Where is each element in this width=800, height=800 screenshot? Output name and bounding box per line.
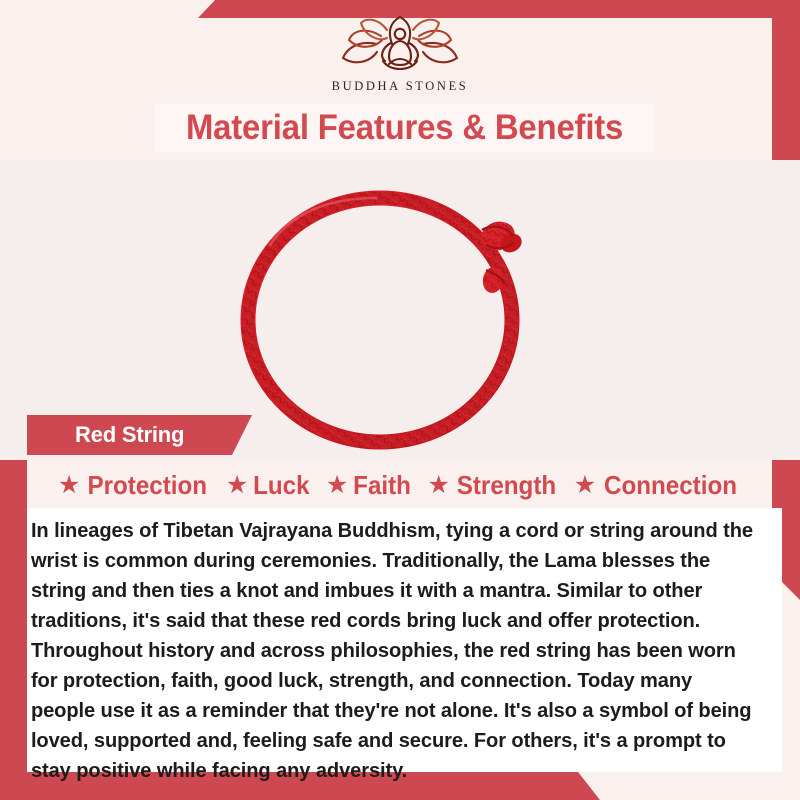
feature-label: Strength — [457, 470, 556, 501]
brand-wordmark: BUDDHA STONES — [0, 79, 800, 94]
star-icon: ★ — [574, 473, 596, 498]
feature-label: Connection — [604, 470, 737, 501]
description-panel: In lineages of Tibetan Vajrayana Buddhis… — [27, 508, 782, 772]
title-band: Material Features & Benefits — [155, 104, 655, 152]
feature-item-strength: ★ Strength — [421, 470, 565, 501]
feature-item-connection: ★ Connection — [568, 470, 748, 501]
page-title: Material Features & Benefits — [186, 108, 623, 148]
material-name: Red String — [75, 422, 184, 448]
feature-item-luck: ★ Luck — [220, 470, 318, 501]
feature-label: Faith — [354, 470, 412, 501]
feature-list: ★ Protection ★ Luck ★ Faith ★ Strength ★… — [0, 463, 800, 507]
star-icon: ★ — [427, 473, 449, 498]
feature-item-protection: ★ Protection — [52, 470, 218, 501]
feature-label: Protection — [88, 470, 208, 501]
brand-logo: BUDDHA STONES — [0, 14, 800, 94]
description-text: In lineages of Tibetan Vajrayana Buddhis… — [27, 508, 771, 786]
lotus-meditation-icon — [337, 14, 463, 76]
feature-label: Luck — [253, 470, 309, 501]
star-icon: ★ — [226, 473, 248, 498]
star-icon: ★ — [326, 473, 348, 498]
feature-item-faith: ★ Faith — [320, 470, 420, 501]
star-icon: ★ — [58, 473, 80, 498]
infographic-page: BUDDHA STONES Material Features & Benefi… — [0, 0, 800, 800]
red-string-bracelet-illustration — [230, 160, 570, 460]
material-name-banner: Red String — [27, 415, 252, 455]
